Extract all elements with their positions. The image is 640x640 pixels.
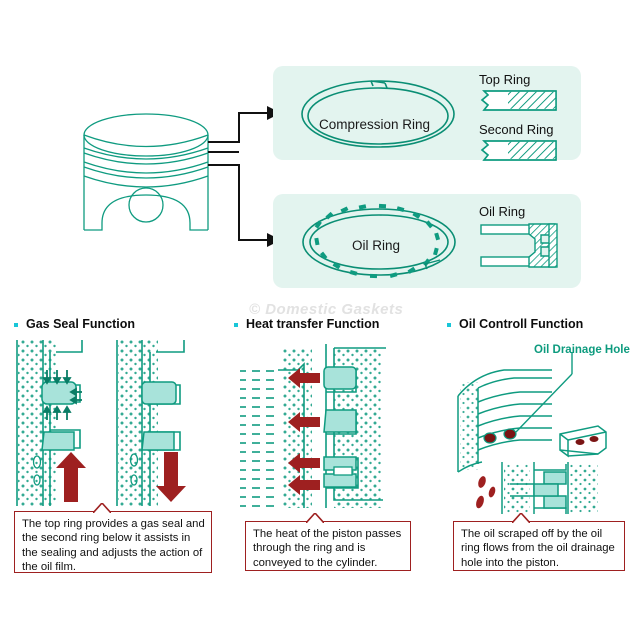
caption-text-gas-seal: The top ring provides a gas seal and the… <box>22 518 205 573</box>
caption-text-heat-transfer: The heat of the piston passes through th… <box>253 528 401 569</box>
arrow-down-gas-seal <box>156 452 186 502</box>
caption-heat-transfer: The heat of the piston passes through th… <box>245 521 411 571</box>
bullet-icon-oil-control <box>447 323 451 327</box>
oil-control-illustration <box>448 352 640 514</box>
caption-oil-control: The oil scraped off by the oil ring flow… <box>453 521 625 571</box>
oil-droplets <box>475 475 497 509</box>
oil-ring-cross-section <box>479 222 561 270</box>
heading-heat-transfer-function: Heat transfer Function <box>246 317 379 331</box>
second-ring-cross-section <box>478 140 558 162</box>
gas-seal-illustration <box>12 340 222 508</box>
caption-notch-gas-seal <box>93 503 111 513</box>
compression-ring-label: Compression Ring <box>319 117 430 132</box>
oil-ring-center-label: Oil Ring <box>352 238 400 253</box>
caption-gas-seal: The top ring provides a gas seal and the… <box>14 511 212 573</box>
second-ring-label: Second Ring <box>479 122 553 137</box>
caption-text-oil-control: The oil scraped off by the oil ring flow… <box>461 528 615 569</box>
watermark: © Domestic Gaskets <box>249 301 403 318</box>
diagram-canvas: Compression Ring Top Ring Second Ring <box>0 0 640 640</box>
heat-transfer-illustration <box>238 340 428 512</box>
top-ring-label: Top Ring <box>479 72 530 87</box>
bullet-icon-heat-transfer <box>234 323 238 327</box>
caption-notch-heat-transfer <box>306 513 324 523</box>
oil-ring-section-label: Oil Ring <box>479 204 525 219</box>
compression-ring-drawing <box>293 72 463 156</box>
heading-gas-seal-function: Gas Seal Function <box>26 317 135 331</box>
bullet-icon-gas-seal <box>14 323 18 327</box>
oil-drainage-hole-label: Oil Drainage Hole <box>534 344 630 356</box>
heading-oil-control-function: Oil Controll Function <box>459 317 583 331</box>
top-ring-cross-section <box>478 90 558 112</box>
arrow-up-gas-seal <box>56 452 86 502</box>
caption-notch-oil-control <box>512 513 530 523</box>
